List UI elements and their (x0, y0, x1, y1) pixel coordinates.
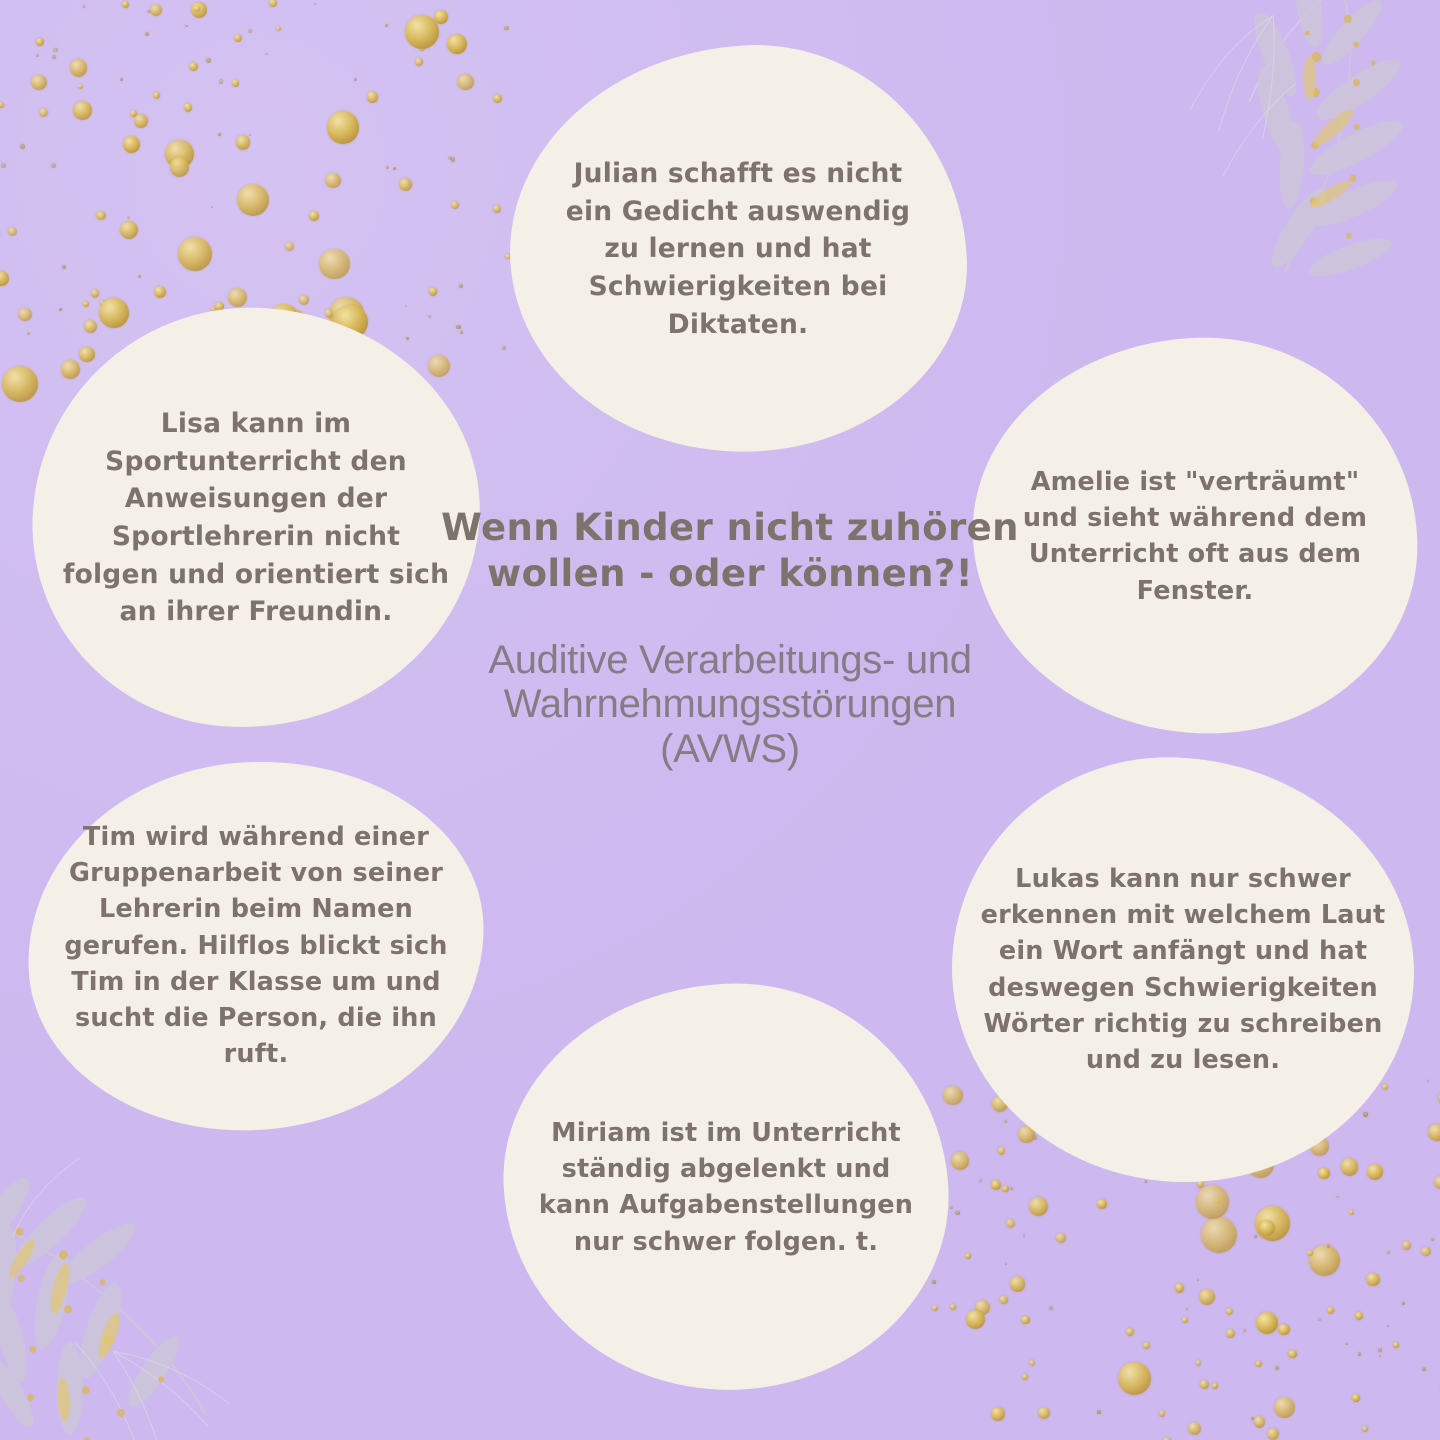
bubble-text-amelie: Amelie ist "verträumt" und sieht während… (1007, 464, 1383, 609)
page-title: Wenn Kinder nicht zuhören wollen - oder … (430, 505, 1030, 598)
statement-bubble-julian: Julian schafft es nicht ein Gedicht ausw… (500, 34, 977, 463)
statement-bubble-amelie: Amelie ist "verträumt" und sieht während… (966, 330, 1424, 741)
statement-bubble-tim: Tim wird während einer Gruppenarbeit von… (22, 754, 491, 1138)
poster-canvas: Julian schafft es nicht ein Gedicht ausw… (0, 0, 1440, 1440)
bubble-text-miriam: Miriam ist im Unterricht ständig abgelen… (536, 1115, 916, 1260)
statement-bubble-lukas: Lukas kann nur schwer erkennen mit welch… (941, 746, 1425, 1194)
bubble-text-lisa: Lisa kann im Sportunterricht den Anweisu… (60, 405, 452, 631)
statement-bubble-miriam: Miriam ist im Unterricht ständig abgelen… (494, 973, 959, 1402)
page-subtitle: Auditive Verarbeitungs- und Wahrnehmungs… (430, 638, 1030, 772)
bubble-text-lukas: Lukas kann nur schwer erkennen mit welch… (978, 861, 1388, 1078)
bubble-text-julian: Julian schafft es nicht ein Gedicht ausw… (548, 155, 928, 343)
center-text-block: Wenn Kinder nicht zuhören wollen - oder … (430, 505, 1030, 772)
gold-leaf-branch-icon (0, 1120, 280, 1440)
statement-bubble-lisa: Lisa kann im Sportunterricht den Anweisu… (19, 293, 493, 743)
gold-leaf-branch-icon (1140, 0, 1440, 310)
bubble-text-tim: Tim wird während einer Gruppenarbeit von… (56, 819, 456, 1072)
